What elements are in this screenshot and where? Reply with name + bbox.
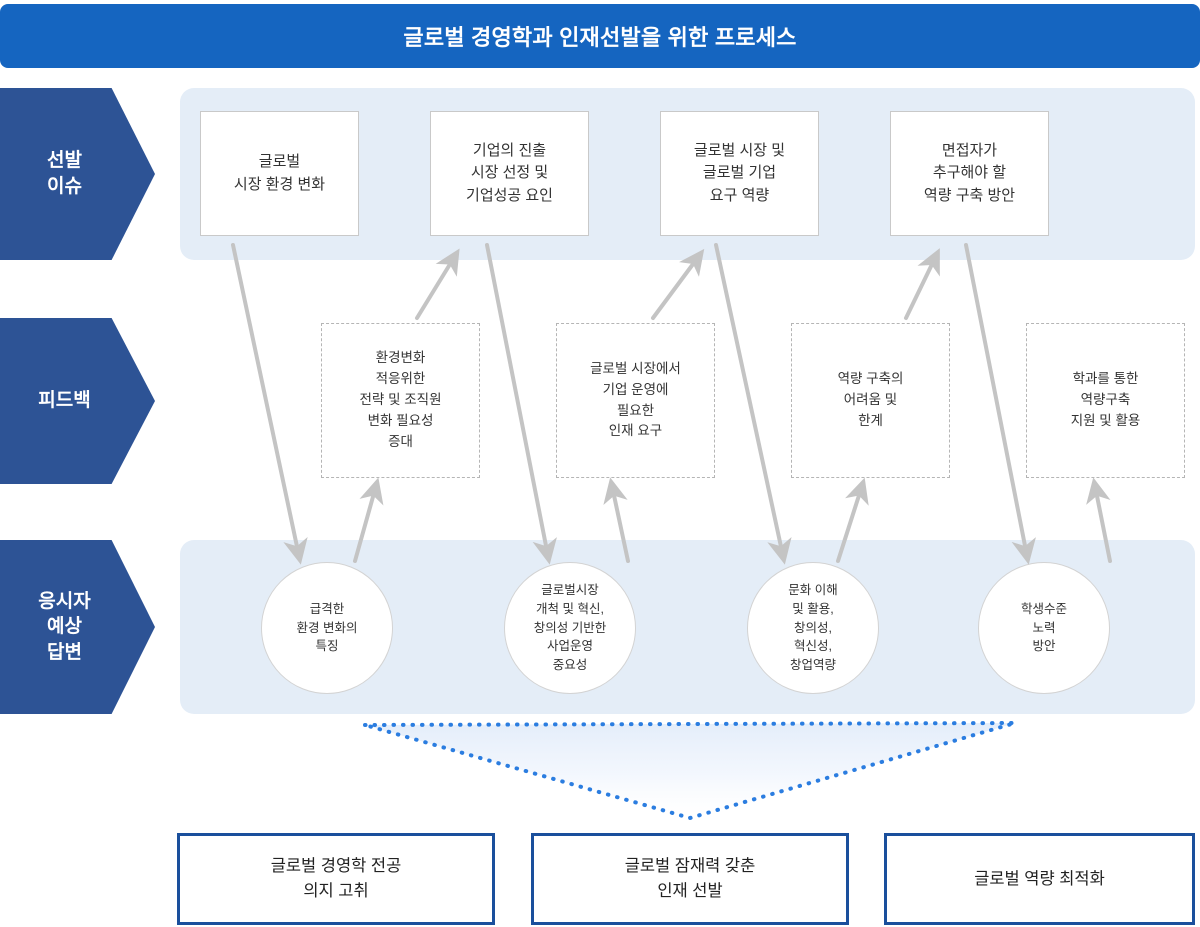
issue-box-3[interactable]: 면접자가 추구해야 할 역량 구축 방안 [890, 111, 1049, 236]
feedback-box-1-line-1: 기업 운영에 [590, 380, 681, 401]
issue-box-0-line-0: 글로벌 [234, 151, 325, 174]
arrow-feedback0-to-issue1 [417, 256, 455, 318]
answer-circle-2-line-2: 창의성, [788, 619, 837, 638]
issue-box-1-line-0: 기업의 진출 [466, 140, 553, 163]
arrow-issue0-to-answer0 [233, 245, 299, 556]
arrow-issue3-to-answer3 [966, 245, 1027, 556]
feedback-box-3[interactable]: 학과를 통한 역량구축 지원 및 활용 [1026, 323, 1185, 478]
feedback-box-0-line-3: 변화 필요성 [359, 411, 441, 432]
stage-label-feedback: 피드백 [0, 318, 155, 484]
feedback-box-0-line-4: 증대 [359, 432, 441, 453]
feedback-box-3-line-2: 지원 및 활용 [1071, 411, 1141, 432]
answer-circle-2-line-4: 창업역량 [788, 656, 837, 675]
answer-circle-1-line-1: 개척 및 혁신, [534, 600, 606, 619]
answer-circle-1[interactable]: 글로벌시장 개척 및 혁신, 창의성 기반한 사업운영 중요성 [504, 562, 636, 694]
issue-box-2-line-2: 요구 역량 [694, 185, 785, 208]
feedback-box-3-line-1: 역량구축 [1071, 390, 1141, 411]
issue-box-3-line-1: 추구해야 할 [924, 162, 1015, 185]
issue-box-0[interactable]: 글로벌 시장 환경 변화 [200, 111, 359, 236]
arrow-feedback1-to-issue2 [653, 256, 699, 318]
answer-circle-2-line-1: 및 활용, [788, 600, 837, 619]
stage-label-feedback-line-0: 피드백 [38, 388, 90, 414]
answer-circle-3-line-1: 노력 [1021, 619, 1067, 638]
outcome-box-1-line-1: 인재 선발 [625, 879, 756, 904]
feedback-box-3-line-0: 학과를 통한 [1071, 369, 1141, 390]
issue-box-1-line-1: 시장 선정 및 [466, 162, 553, 185]
feedback-box-0-line-2: 전략 및 조직원 [359, 390, 441, 411]
outcome-box-2-line-0: 글로벌 역량 최적화 [974, 867, 1105, 892]
answer-circle-3-line-0: 학생수준 [1021, 600, 1067, 619]
answer-circle-0-line-0: 급격한 [297, 600, 358, 619]
answer-circle-1-line-2: 창의성 기반한 [534, 619, 606, 638]
stage-label-answer-line-0: 응시자 [38, 589, 90, 615]
feedback-box-1-line-0: 글로벌 시장에서 [590, 359, 681, 380]
feedback-box-2-line-0: 역량 구축의 [838, 369, 904, 390]
stage-label-issue-line-1: 이슈 [47, 174, 82, 200]
issue-box-1-line-2: 기업성공 요인 [466, 185, 553, 208]
feedback-box-0[interactable]: 환경변화 적응위한 전략 및 조직원 변화 필요성 증대 [321, 323, 480, 478]
funnel-triangle [365, 723, 1015, 818]
outcome-box-1[interactable]: 글로벌 잠재력 갖춘 인재 선발 [531, 833, 849, 925]
issue-box-3-line-0: 면접자가 [924, 140, 1015, 163]
issue-box-2-line-1: 글로벌 기업 [694, 162, 785, 185]
answer-circle-2[interactable]: 문화 이해 및 활용, 창의성, 혁신성, 창업역량 [747, 562, 879, 694]
page-title: 글로벌 경영학과 인재선발을 위한 프로세스 [403, 20, 796, 52]
outcome-box-1-line-0: 글로벌 잠재력 갖춘 [625, 854, 756, 879]
stage-label-answer-line-2: 답변 [47, 640, 82, 666]
stage-label-answer: 응시자 예상 답변 [0, 540, 155, 714]
answer-circle-1-line-4: 중요성 [534, 656, 606, 675]
issue-box-3-line-2: 역량 구축 방안 [924, 185, 1015, 208]
answer-circle-2-line-3: 혁신성, [788, 637, 837, 656]
answer-circle-2-line-0: 문화 이해 [788, 581, 837, 600]
feedback-box-0-line-1: 적응위한 [359, 369, 441, 390]
answer-circle-3-line-2: 방안 [1021, 637, 1067, 656]
answer-circle-0[interactable]: 급격한 환경 변화의 특징 [261, 562, 393, 694]
answer-circle-0-line-1: 환경 변화의 [297, 619, 358, 638]
arrow-issue2-to-answer2 [716, 245, 783, 556]
outcome-box-0[interactable]: 글로벌 경영학 전공 의지 고취 [177, 833, 495, 925]
outcome-box-0-line-1: 의지 고취 [271, 879, 402, 904]
diagram-title-bar: 글로벌 경영학과 인재선발을 위한 프로세스 [0, 4, 1200, 68]
issue-box-1[interactable]: 기업의 진출 시장 선정 및 기업성공 요인 [430, 111, 589, 236]
outcome-box-2[interactable]: 글로벌 역량 최적화 [884, 833, 1195, 925]
outcome-box-0-line-0: 글로벌 경영학 전공 [271, 854, 402, 879]
answer-circle-1-line-0: 글로벌시장 [534, 581, 606, 600]
answer-circle-3[interactable]: 학생수준 노력 방안 [978, 562, 1110, 694]
issue-box-0-line-1: 시장 환경 변화 [234, 174, 325, 197]
feedback-box-2[interactable]: 역량 구축의 어려움 및 한계 [791, 323, 950, 478]
stage-label-answer-line-1: 예상 [47, 614, 82, 640]
stage-label-issue: 선발 이슈 [0, 88, 155, 260]
issue-box-2-line-0: 글로벌 시장 및 [694, 140, 785, 163]
feedback-box-1-line-3: 인재 요구 [590, 421, 681, 442]
stage-label-issue-line-0: 선발 [47, 148, 82, 174]
feedback-box-1-line-2: 필요한 [590, 401, 681, 422]
answer-circle-0-line-2: 특징 [297, 637, 358, 656]
feedback-box-0-line-0: 환경변화 [359, 348, 441, 369]
process-diagram: 글로벌 경영학과 인재선발을 위한 프로세스 선발 이슈 피드백 응시자 예상 … [0, 0, 1200, 927]
arrow-issue1-to-answer1 [487, 245, 548, 556]
feedback-box-2-line-2: 한계 [838, 411, 904, 432]
answer-circle-1-line-3: 사업운영 [534, 637, 606, 656]
feedback-box-2-line-1: 어려움 및 [838, 390, 904, 411]
issue-box-2[interactable]: 글로벌 시장 및 글로벌 기업 요구 역량 [660, 111, 819, 236]
arrow-feedback2-to-issue3 [906, 256, 936, 318]
feedback-box-1[interactable]: 글로벌 시장에서 기업 운영에 필요한 인재 요구 [556, 323, 715, 478]
